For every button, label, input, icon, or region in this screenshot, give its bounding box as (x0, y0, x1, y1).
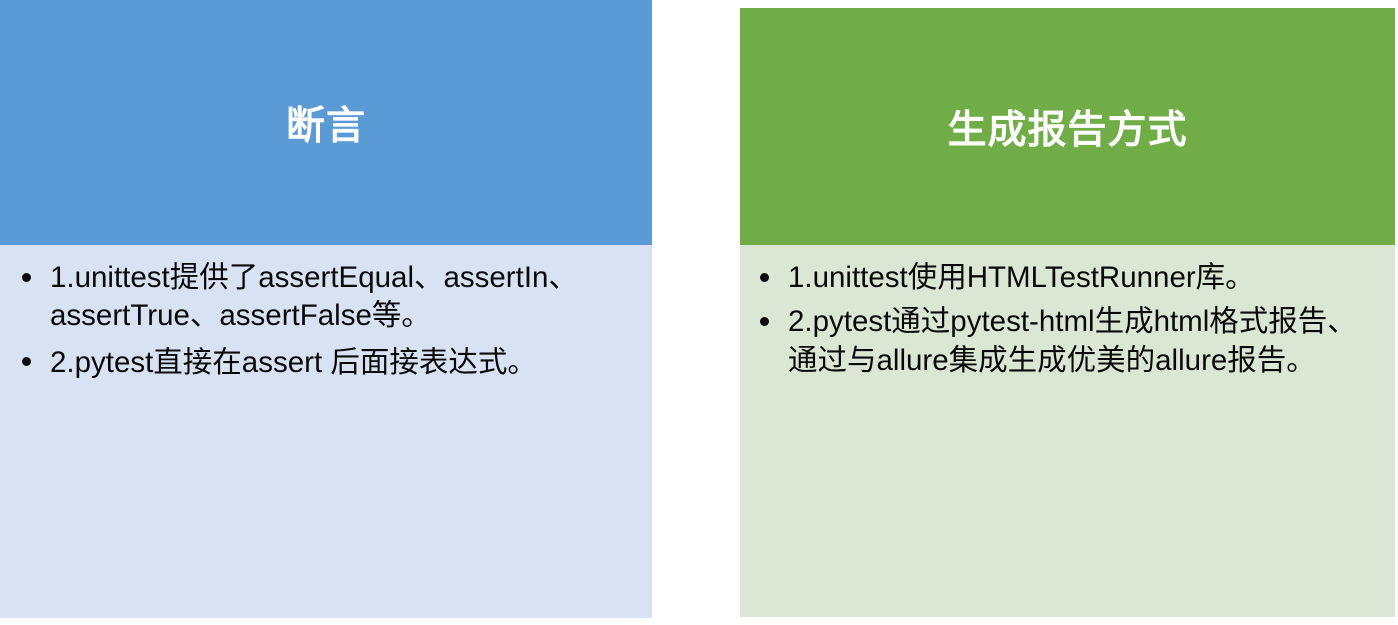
list-item-text: 1.unittest提供了assertEqual、assertIn、assert… (50, 259, 642, 336)
list-item-text: 2.pytest直接在assert 后面接表达式。 (50, 344, 642, 382)
list-item: 1.unittest使用HTMLTestRunner库。 (754, 259, 1385, 297)
list-item: 2.pytest直接在assert 后面接表达式。 (14, 344, 642, 382)
slide-canvas: 断言 1.unittest提供了assertEqual、assertIn、ass… (0, 0, 1398, 625)
bullet-dot-icon (22, 273, 31, 282)
list-item: 1.unittest提供了assertEqual、assertIn、assert… (14, 259, 642, 336)
bullet-dot-icon (22, 357, 31, 366)
bullet-dot-icon (760, 317, 769, 326)
bullet-list-assertion: 1.unittest提供了assertEqual、assertIn、assert… (14, 259, 642, 382)
list-item-text: 2.pytest通过pytest-html生成html格式报告、通过与allur… (788, 303, 1385, 380)
card-body-assertion: 1.unittest提供了assertEqual、assertIn、assert… (0, 245, 652, 618)
bullet-dot-icon (760, 273, 769, 282)
comparison-card-report-generation: 生成报告方式 1.unittest使用HTMLTestRunner库。 2.py… (740, 8, 1395, 617)
card-header-report-generation: 生成报告方式 (740, 8, 1395, 245)
list-item: 2.pytest通过pytest-html生成html格式报告、通过与allur… (754, 303, 1385, 380)
bullet-list-report-generation: 1.unittest使用HTMLTestRunner库。 2.pytest通过p… (754, 259, 1385, 380)
comparison-card-assertion: 断言 1.unittest提供了assertEqual、assertIn、ass… (0, 0, 652, 618)
list-item-text: 1.unittest使用HTMLTestRunner库。 (788, 259, 1385, 297)
card-header-assertion: 断言 (0, 0, 652, 245)
card-body-report-generation: 1.unittest使用HTMLTestRunner库。 2.pytest通过p… (740, 245, 1395, 617)
